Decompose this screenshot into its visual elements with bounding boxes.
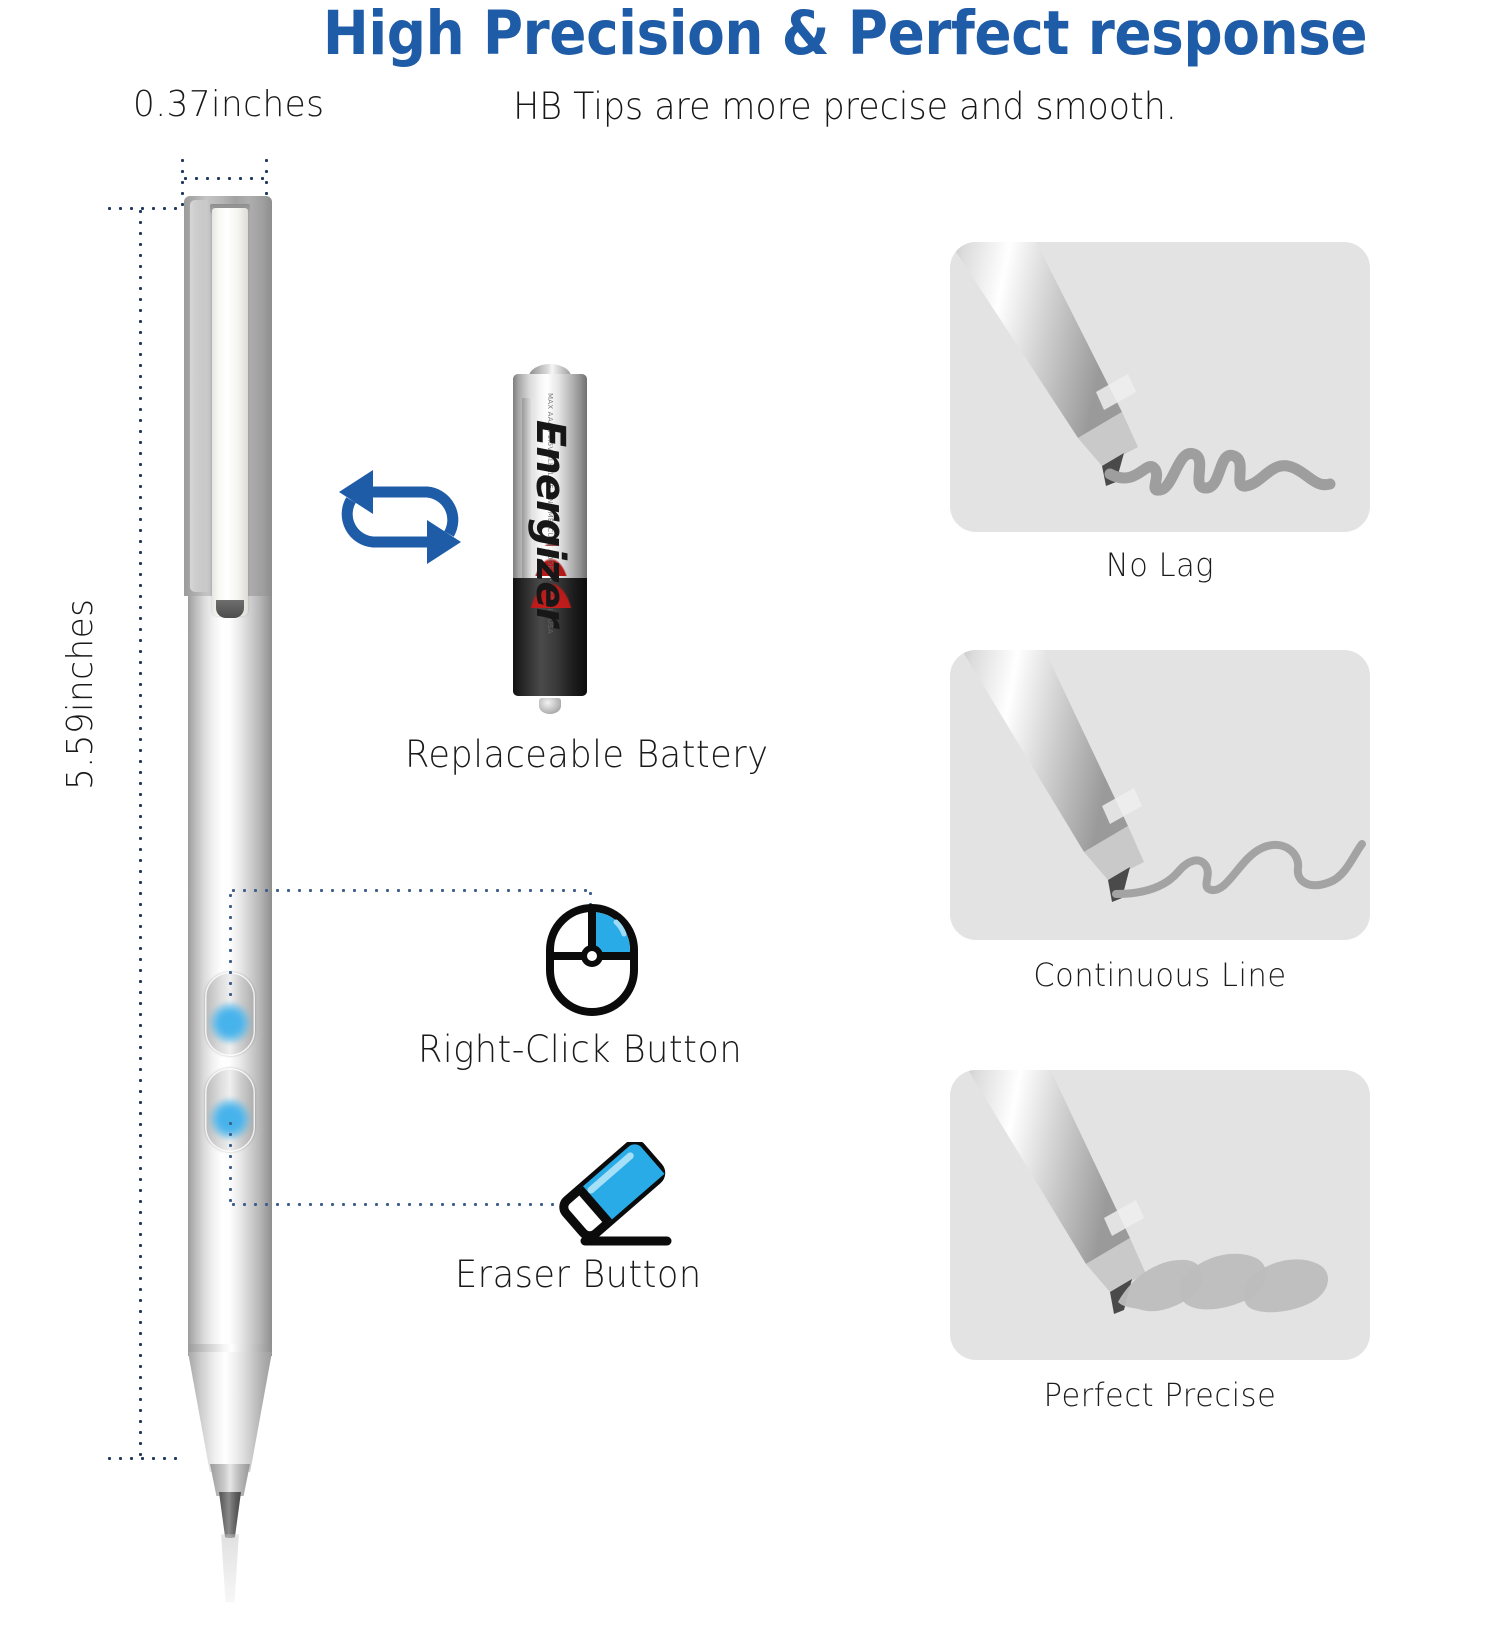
rightclick-leader-horizontal[interactable] <box>228 888 590 893</box>
feature-card-no-lag <box>950 242 1370 532</box>
eraser-leader-vertical[interactable] <box>228 1118 233 1206</box>
right-click-button-label: Right-Click Button <box>418 1028 742 1071</box>
feature-card-perfect-precise <box>950 1070 1370 1360</box>
page-title: High Precision & Perfect response <box>265 2 1426 66</box>
pen-tip-art <box>950 1070 1146 1314</box>
cycle-arrows-icon <box>325 462 475 572</box>
ink-strokes-brush <box>1118 1254 1328 1313</box>
feature-card-continuous-line <box>950 650 1370 940</box>
width-measure-line <box>180 176 268 181</box>
feature-caption-perfect-precise: Perfect Precise <box>961 1376 1360 1414</box>
ink-stroke-zigzag <box>1110 453 1330 490</box>
ink-stroke-wave <box>1116 844 1362 894</box>
mouse-icon <box>542 900 642 1020</box>
width-dimension-label: 0.37inches <box>133 84 324 125</box>
eraser-leader-horizontal[interactable] <box>228 1202 558 1207</box>
length-dimension-label: 5.59inches <box>60 599 101 790</box>
pen-tip-art <box>950 242 1138 486</box>
pen-reflection <box>202 1534 258 1626</box>
pen-lower-ring <box>188 1344 272 1352</box>
feature-caption-continuous-line: Continuous Line <box>961 956 1360 994</box>
pen-cone <box>188 1352 272 1472</box>
stylus-pen-illustration <box>150 196 310 1486</box>
pen-clip-foot <box>216 600 244 618</box>
replaceable-battery-label: Replaceable Battery <box>405 733 768 776</box>
feature-caption-no-lag: No Lag <box>961 546 1360 584</box>
battery-body: MAX AAAA 1.5V ALKALINE • NO MERCURY ADDE… <box>513 374 587 696</box>
rightclick-leader-vertical[interactable] <box>228 890 233 1000</box>
page-subtitle: HB Tips are more precise and smooth. <box>239 85 1452 128</box>
pen-cap-sheen <box>190 200 210 592</box>
battery-brand-text: Energizer <box>527 398 573 648</box>
aaaa-battery-illustration: MAX AAAA 1.5V ALKALINE • NO MERCURY ADDE… <box>513 364 587 724</box>
pen-ferrule <box>210 1464 250 1496</box>
eraser-button-label: Eraser Button <box>455 1253 702 1296</box>
battery-negative-terminal <box>539 698 561 714</box>
eraser-icon <box>545 1142 675 1252</box>
pen-tip-art <box>950 650 1144 902</box>
pen-right-click-led <box>209 1002 251 1044</box>
pen-pocket-clip <box>212 208 248 616</box>
length-measure-line <box>138 206 143 1460</box>
infographic-canvas: High Precision & Perfect response HB Tip… <box>0 0 1499 1499</box>
